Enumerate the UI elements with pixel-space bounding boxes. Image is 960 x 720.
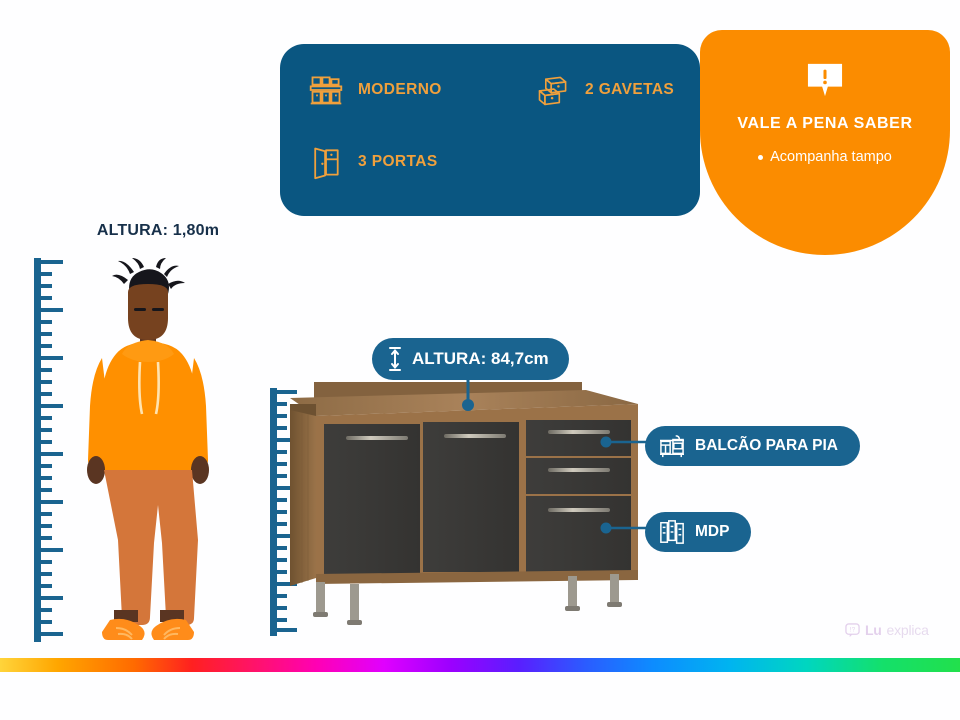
- features-panel: MODERNO 2 GAVETAS: [280, 44, 700, 216]
- feature-label: 3 PORTAS: [358, 153, 438, 171]
- tip-bullet-text: Acompanha tampo: [770, 149, 892, 165]
- lu-explica-logo: !? Lu explica: [845, 620, 951, 640]
- speech-bubble-icon: !?: [845, 623, 860, 638]
- feature-label: 2 GAVETAS: [585, 81, 674, 99]
- logo-brand: Lu: [865, 622, 882, 638]
- callout-label: BALCÃO PARA PIA: [695, 437, 838, 455]
- tip-panel: VALE A PENA SABER Acompanha tampo: [700, 30, 950, 255]
- alert-bubble-icon: [804, 62, 846, 98]
- bullet-dot-icon: [758, 155, 763, 160]
- rainbow-divider: [0, 658, 960, 672]
- feature-item-moderno: MODERNO: [308, 72, 442, 108]
- infographic-canvas: MODERNO 2 GAVETAS: [0, 0, 960, 720]
- callout-label: ALTURA: 84,7cm: [412, 349, 549, 369]
- drawer-boxes-icon: [535, 72, 571, 108]
- cabinet-door-icon: [308, 144, 344, 180]
- callout-label: MDP: [695, 523, 729, 541]
- feature-item-portas: 3 PORTAS: [308, 144, 438, 180]
- wood-board-icon: [659, 519, 685, 545]
- person-height-label: ALTURA: 1,80m: [58, 222, 258, 240]
- callout-badge-height[interactable]: ALTURA: 84,7cm: [372, 338, 569, 380]
- feature-item-gavetas: 2 GAVETAS: [535, 72, 674, 108]
- cabinet-product-image: [286, 378, 646, 634]
- kitchen-counter-icon: [308, 72, 344, 108]
- svg-text:!?: !?: [850, 626, 856, 633]
- tip-title: VALE A PENA SABER: [700, 115, 950, 133]
- tip-bullet-item: Acompanha tampo: [700, 149, 950, 165]
- person-illustration: [78, 258, 218, 648]
- ruler-tall: [34, 258, 64, 642]
- logo-word: explica: [887, 622, 929, 638]
- callout-badge-sink[interactable]: BALCÃO PARA PIA: [645, 426, 860, 466]
- vertical-arrow-icon: [386, 346, 404, 372]
- leader-line-height: [462, 376, 474, 412]
- sink-counter-icon: [659, 434, 685, 458]
- feature-label: MODERNO: [358, 81, 442, 99]
- callout-badge-mdp[interactable]: MDP: [645, 512, 751, 552]
